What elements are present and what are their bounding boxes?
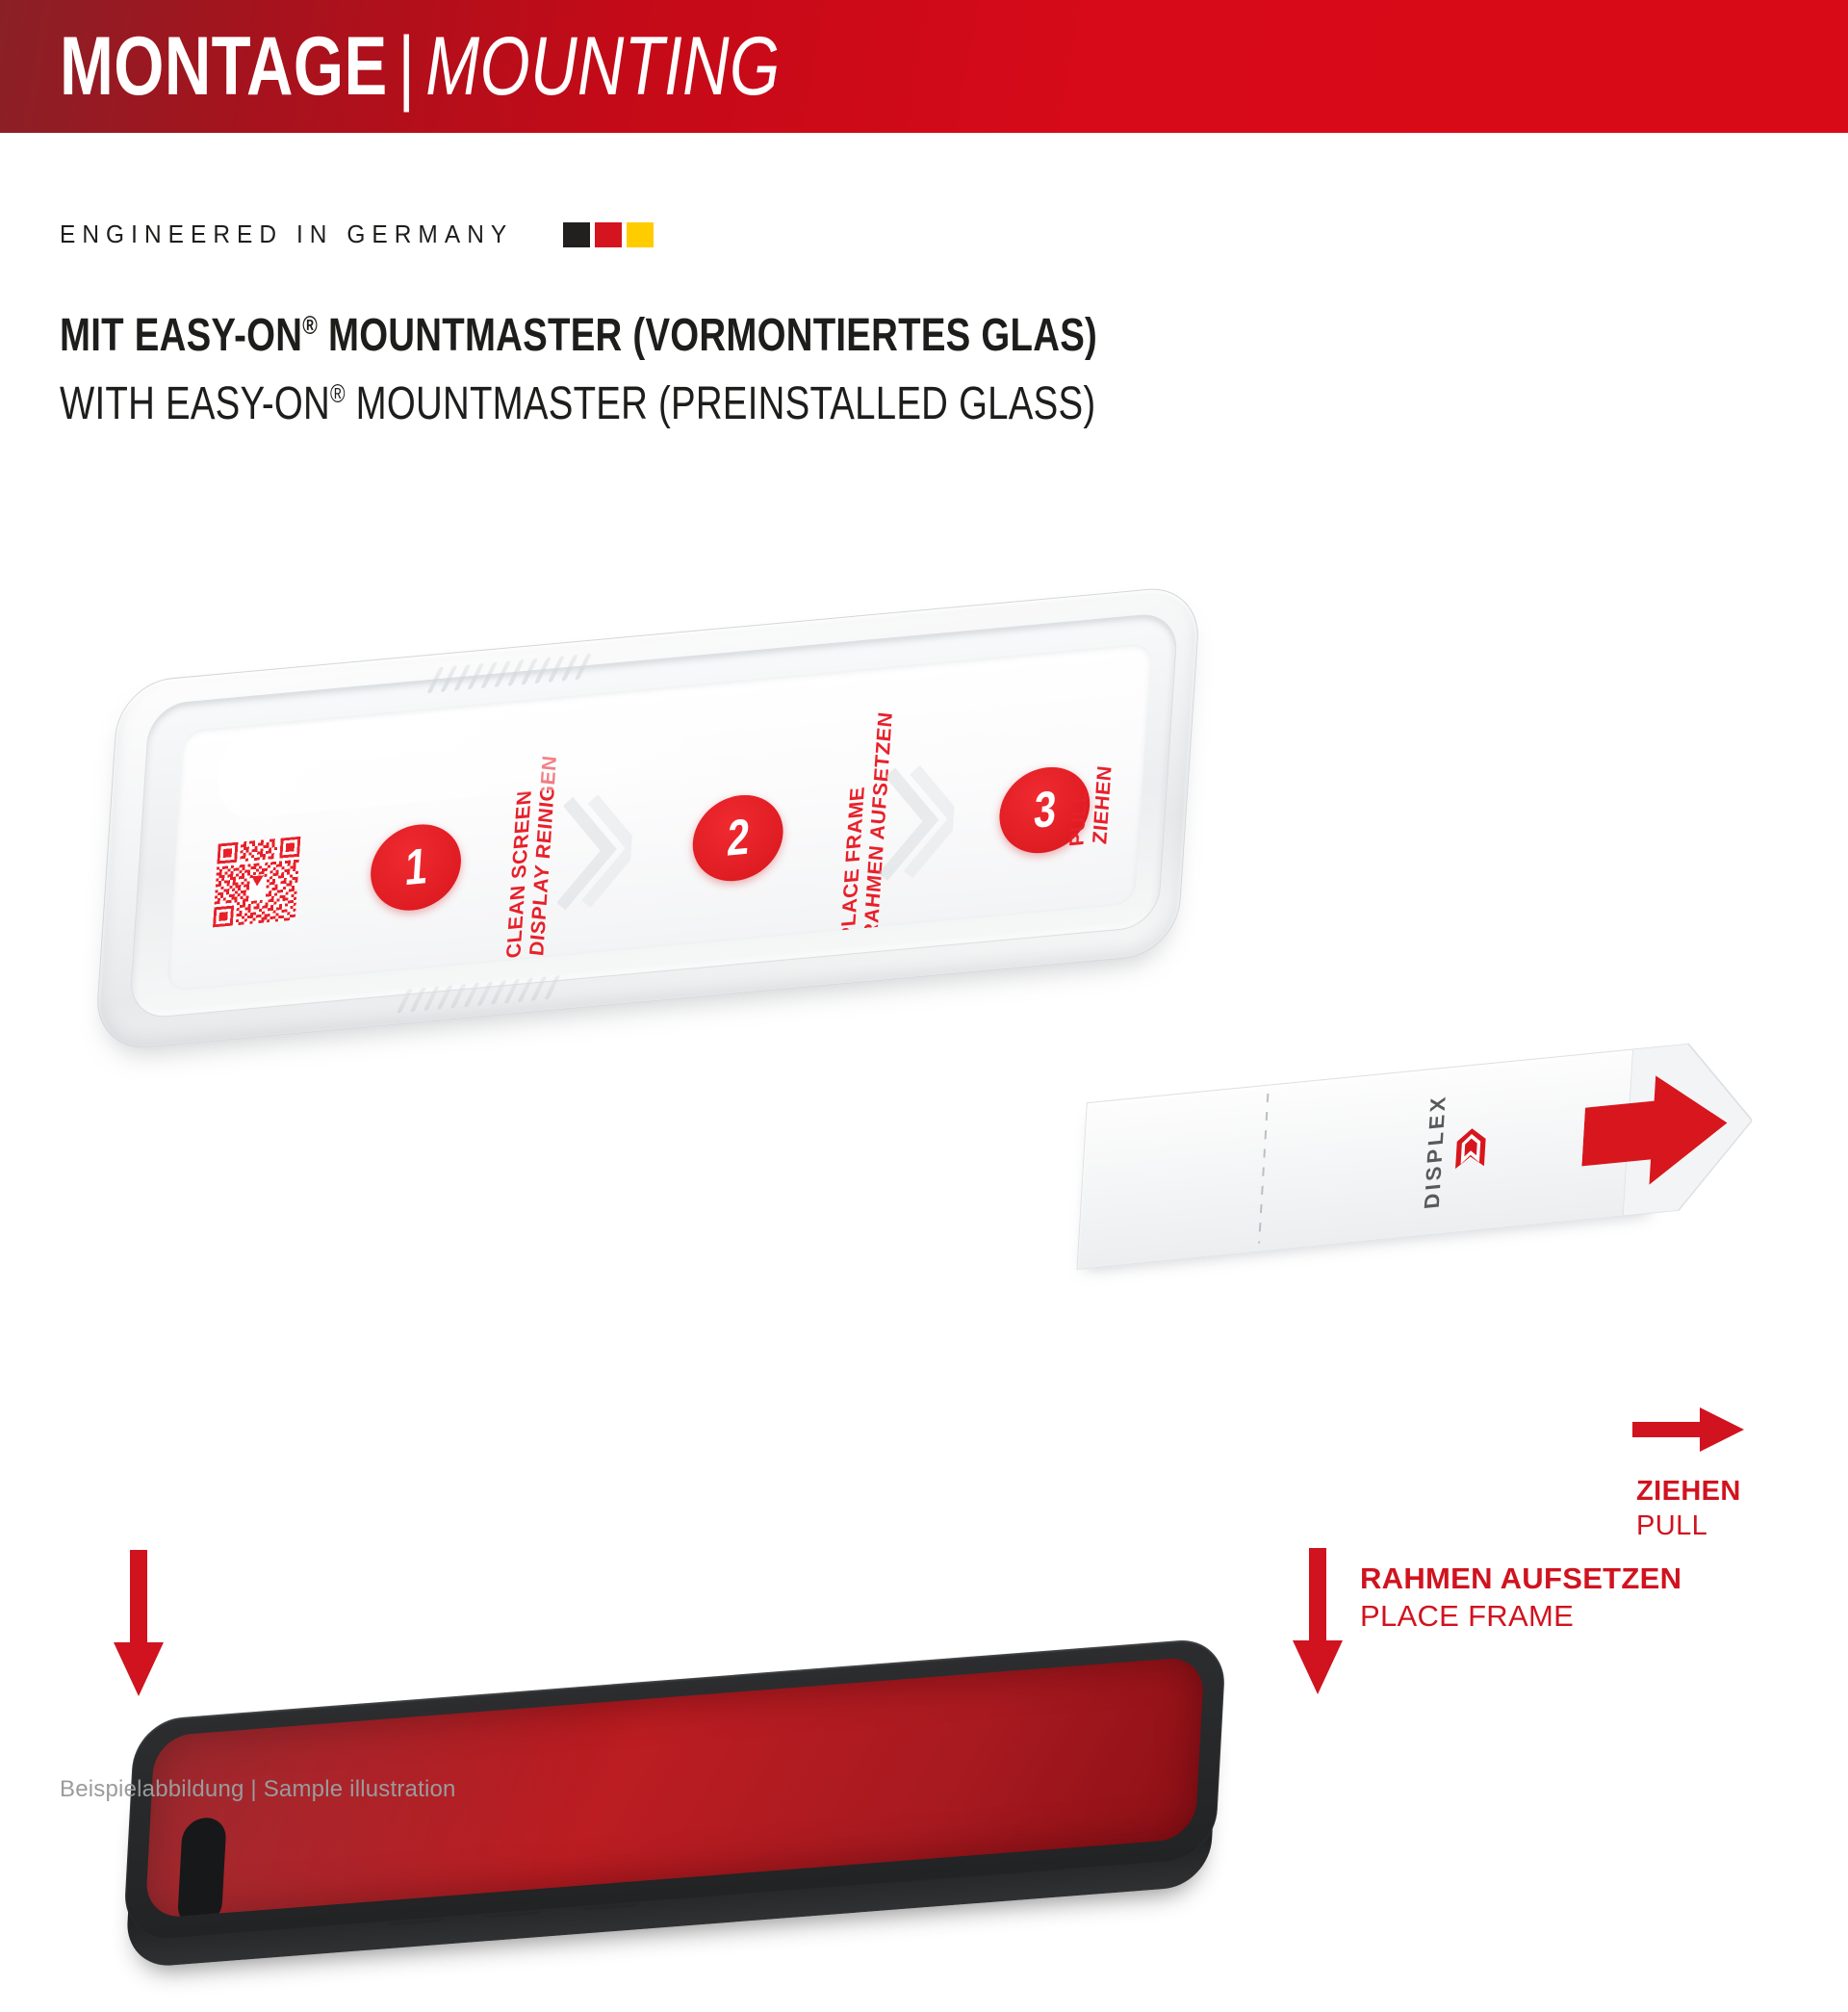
pull-tab-body: DISPLEX	[1077, 1045, 1665, 1270]
subtitle-en-b: MOUNTMASTER (PREINSTALLED GLASS)	[346, 378, 1096, 429]
smartphone	[118, 1637, 1228, 2012]
subtitle-en: WITH EASY-ON® MOUNTMASTER (PREINSTALLED …	[60, 381, 1095, 427]
qr-code-icon	[213, 837, 300, 928]
chevron-right-icon-1	[556, 790, 635, 914]
title-montage: MONTAGE	[60, 20, 388, 113]
registered-mark-en: ®	[330, 379, 346, 408]
annotation-pull: ZIEHEN PULL	[1636, 1475, 1741, 1544]
annotation-frame-de: RAHMEN AUFSETZEN	[1360, 1560, 1681, 1597]
subtitle-en-a: WITH EASY-ON	[60, 378, 330, 429]
title-mounting: MOUNTING	[425, 20, 780, 113]
step-1-badge: 1	[368, 821, 464, 915]
mounting-illustration: 1 CLEAN SCREEN DISPLAY REINIGEN 2 PLACE …	[0, 462, 1848, 1694]
step-1-number: 1	[402, 838, 428, 898]
page-title: MONTAGE|MOUNTING	[60, 25, 781, 108]
annotation-pull-en: PULL	[1636, 1509, 1741, 1544]
chevron-right-icon-2	[879, 761, 958, 884]
subtitle-de-a: MIT EASY-ON	[60, 310, 302, 361]
flag-swatch-black	[563, 222, 590, 247]
arrow-down-icon-left	[114, 1550, 164, 1696]
pull-direction-arrow-icon	[1580, 1065, 1731, 1196]
displex-wordmark: DISPLEX	[1420, 1093, 1451, 1210]
eyebrow-label: ENGINEERED IN GERMANY	[60, 219, 513, 249]
step-1-label: CLEAN SCREEN DISPLAY REINIGEN	[502, 755, 562, 960]
annotation-pull-de: ZIEHEN	[1636, 1475, 1741, 1509]
displex-mark-icon	[1453, 1125, 1488, 1172]
step-2-badge: 2	[690, 791, 786, 885]
subtitle-de-b: MOUNTMASTER (VORMONTIERTES GLAS)	[318, 310, 1097, 361]
arrow-right-icon	[1632, 1406, 1744, 1454]
dynamic-island	[177, 1817, 227, 1920]
step-2-number: 2	[725, 809, 751, 869]
subtitle-de: MIT EASY-ON® MOUNTMASTER (VORMONTIERTES …	[60, 313, 1097, 359]
flag-swatch-gold	[627, 222, 654, 247]
pull-tab-perforation	[1258, 1094, 1269, 1244]
annotation-frame-en: PLACE FRAME	[1360, 1597, 1681, 1635]
footer-caption: Beispielabbildung | Sample illustration	[60, 1776, 456, 1803]
registered-mark-de: ®	[302, 311, 318, 340]
header-banner: MONTAGE|MOUNTING	[0, 0, 1848, 133]
pull-tab[interactable]: DISPLEX	[1077, 1037, 1758, 1270]
flag-swatch-red	[595, 222, 622, 247]
arrow-down-icon-right	[1293, 1548, 1343, 1694]
engineered-in-germany: ENGINEERED IN GERMANY	[60, 219, 654, 249]
displex-logo: DISPLEX	[1420, 1089, 1491, 1210]
step-3-label: PULL ZIEHEN	[1065, 765, 1117, 848]
annotation-place-frame: RAHMEN AUFSETZEN PLACE FRAME	[1360, 1560, 1681, 1635]
step-3-label-de: ZIEHEN	[1090, 765, 1118, 846]
german-flag-icon	[563, 222, 654, 247]
qr-code[interactable]	[213, 837, 300, 928]
step-3-number: 3	[1032, 781, 1058, 841]
mounting-frame-tray: 1 CLEAN SCREEN DISPLAY REINIGEN 2 PLACE …	[94, 584, 1202, 1052]
title-separator: |	[388, 20, 426, 113]
